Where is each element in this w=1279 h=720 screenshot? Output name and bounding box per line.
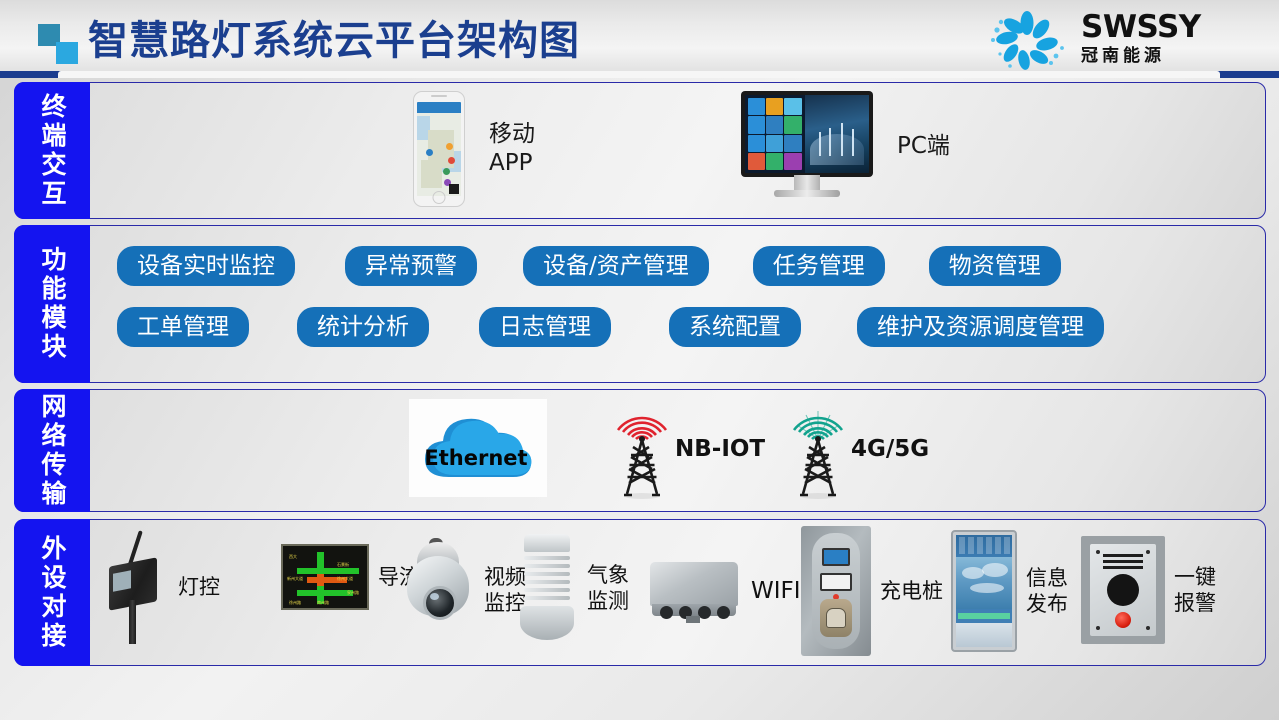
- device-item-video-camera[interactable]: 视频 监控: [401, 538, 526, 642]
- smartphone-map-icon: [413, 91, 465, 207]
- device-item-lamp-controller[interactable]: 灯控: [101, 528, 220, 646]
- device-label-lamp-controller: 灯控: [178, 574, 220, 600]
- network-item-nbiot[interactable]: NB-IOT: [605, 399, 765, 499]
- device-item-emergency-alarm[interactable]: 一键 报警: [1081, 536, 1216, 644]
- network-label-ethernet: Ethernet: [424, 446, 527, 470]
- title-decoration-squares-icon: [38, 24, 84, 66]
- network-item-ethernet[interactable]: Ethernet: [409, 399, 547, 497]
- brand-subname: 冠南能源: [1081, 44, 1231, 68]
- device-label-info-display: 信息 发布: [1026, 565, 1068, 617]
- page-title: 智慧路灯系统云平台架构图: [88, 13, 580, 69]
- emergency-call-icon: [1081, 536, 1165, 644]
- header-accent-bar: [0, 71, 1279, 78]
- terminal-label-mobile-app: 移动 APP: [489, 120, 535, 178]
- cloud-icon: Ethernet: [409, 399, 547, 497]
- page-header: 智慧路灯系统云平台架构图 SWSSY 冠南能源: [0, 0, 1279, 78]
- row-label-terminal: 终端交互: [14, 82, 90, 219]
- module-button-task-management[interactable]: 任务管理: [753, 246, 885, 286]
- terminal-label-pc: PC端: [897, 132, 950, 161]
- lamp-controller-icon: [101, 528, 169, 646]
- device-item-info-display[interactable]: 信息 发布: [951, 530, 1068, 652]
- device-label-weather-station: 气象 监测: [587, 562, 629, 614]
- device-item-wifi[interactable]: WIFI: [646, 558, 801, 624]
- wifi-ap-box-icon: [646, 558, 742, 624]
- radio-tower-red-icon: [605, 399, 679, 499]
- network-label-4g5g: 4G/5G: [851, 436, 929, 462]
- device-item-weather-station[interactable]: 气象 监测: [516, 532, 629, 644]
- network-item-4g5g[interactable]: 4G/5G: [781, 399, 929, 499]
- panel-network-transmission: 网络传输 Ethernet: [14, 389, 1266, 512]
- module-button-system-config[interactable]: 系统配置: [669, 307, 801, 347]
- water-drop-petals-icon: [981, 10, 1073, 70]
- panel-terminal-interaction: 终端交互: [14, 82, 1266, 219]
- device-label-emergency-alarm: 一键 报警: [1174, 564, 1216, 616]
- desktop-monitor-icon: [741, 91, 873, 201]
- ptz-camera-icon: [401, 538, 475, 642]
- radio-tower-teal-icon: [781, 399, 855, 499]
- module-button-device-realtime-monitor[interactable]: 设备实时监控: [117, 246, 295, 286]
- row-label-modules: 功能模块: [14, 225, 90, 383]
- brand-logo: SWSSY 冠南能源: [981, 8, 1231, 72]
- module-button-row-2: 工单管理 统计分析 日志管理 系统配置 维护及资源调度管理: [117, 307, 1255, 347]
- row-label-devices: 外设对接: [14, 519, 90, 666]
- module-button-asset-management[interactable]: 设备/资产管理: [523, 246, 709, 286]
- module-button-log-management[interactable]: 日志管理: [479, 307, 611, 347]
- charging-pile-icon: [801, 526, 871, 656]
- module-button-work-order[interactable]: 工单管理: [117, 307, 249, 347]
- brand-name: SWSSY: [1081, 10, 1231, 44]
- device-label-charging-pile: 充电桩: [880, 578, 943, 604]
- panel-function-modules: 功能模块 设备实时监控 异常预警 设备/资产管理 任务管理 物资管理 工单管理 …: [14, 225, 1266, 383]
- weather-station-icon: [516, 532, 578, 644]
- device-label-wifi: WIFI: [751, 578, 801, 604]
- guidance-screen-icon: 西大 石景街 新州大道 徐州大道 徐州路 南州路 泉州路: [281, 544, 369, 610]
- row-label-network: 网络传输: [14, 389, 90, 512]
- info-display-icon: [951, 530, 1017, 652]
- device-item-charging-pile[interactable]: 充电桩: [801, 526, 943, 656]
- module-button-statistics[interactable]: 统计分析: [297, 307, 429, 347]
- module-button-material-management[interactable]: 物资管理: [929, 246, 1061, 286]
- terminal-item-mobile-app[interactable]: 移动 APP: [413, 91, 535, 207]
- module-button-anomaly-alert[interactable]: 异常预警: [345, 246, 477, 286]
- module-button-row-1: 设备实时监控 异常预警 设备/资产管理 任务管理 物资管理: [117, 246, 1255, 286]
- module-button-maintenance-scheduling[interactable]: 维护及资源调度管理: [857, 307, 1104, 347]
- network-label-nbiot: NB-IOT: [675, 436, 765, 462]
- terminal-item-pc[interactable]: PC端: [741, 91, 950, 201]
- panel-peripheral-devices: 外设对接 灯控 西大 石景街 新州大道 徐州大道: [14, 519, 1266, 666]
